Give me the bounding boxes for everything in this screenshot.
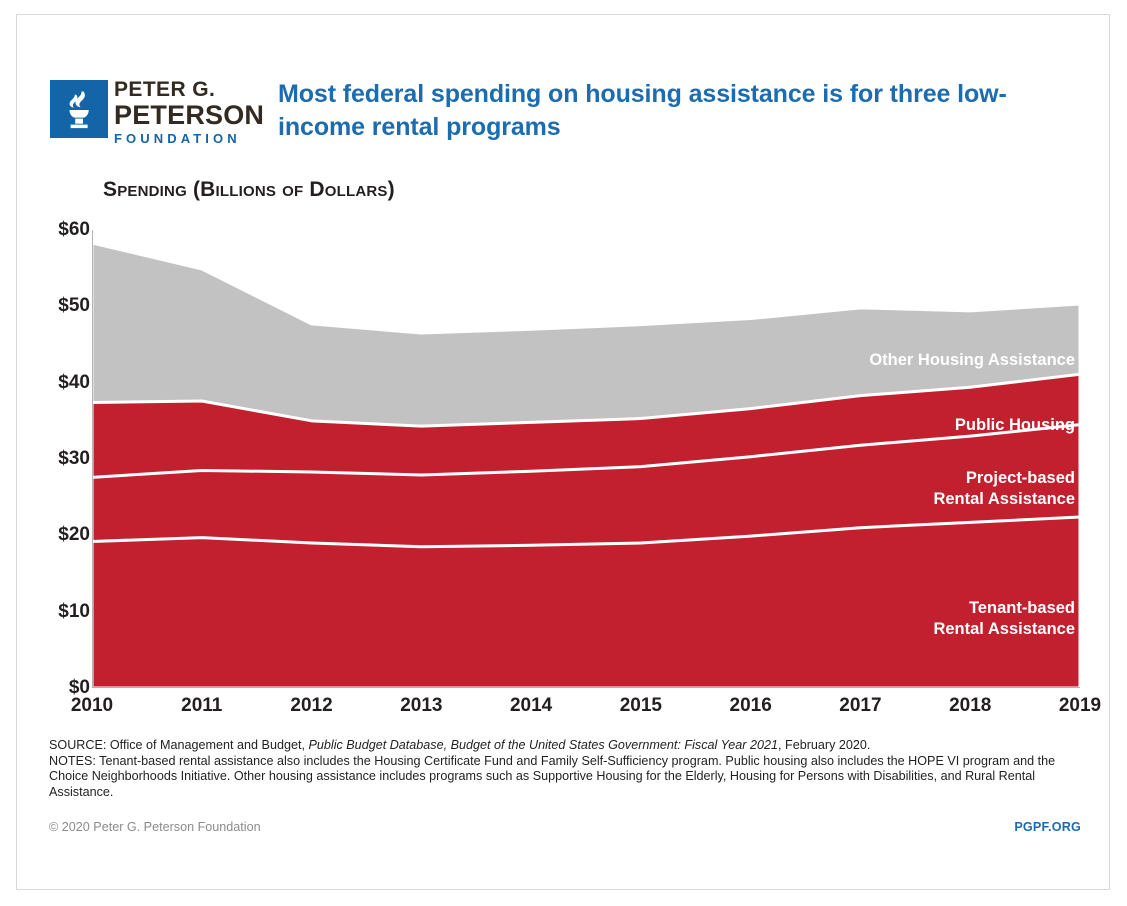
x-axis-tick-label: 2014 [510,695,552,717]
series-label-public: Public Housing [955,415,1075,436]
source-line: SOURCE: Office of Management and Budget,… [49,738,1081,754]
x-axis-tick-label: 2013 [400,695,442,717]
x-axis-tick-label: 2018 [949,695,991,717]
y-axis-caption: Spending (Billions of Dollars) [103,178,395,202]
y-axis-tick-label: $60 [58,219,90,241]
y-axis-tick-label: $10 [58,601,90,623]
logo-wordmark: PETER G. PETERSON FOUNDATION [114,79,264,146]
series-label-tenant: Tenant-basedRental Assistance [933,598,1075,640]
infographic-card: PETER G. PETERSON FOUNDATION Most federa… [0,0,1127,906]
x-axis-tick-label: 2012 [290,695,332,717]
pgpf-site-link[interactable]: PGPF.ORG [1014,820,1081,834]
series-label-line: Rental Assistance [933,620,1075,638]
series-label-line: Public Housing [955,416,1075,434]
y-axis-tick-label: $50 [58,295,90,317]
notes-line: NOTES: Tenant-based rental assistance al… [49,754,1081,801]
x-axis-tick-label: 2015 [620,695,662,717]
series-label-line: Project-based [966,469,1075,487]
y-axis-tick-label: $20 [58,524,90,546]
y-axis-labels: $0$10$20$30$40$50$60 [45,215,90,705]
torch-icon [50,80,108,138]
series-label-line: Other Housing Assistance [869,351,1075,369]
logo: PETER G. PETERSON FOUNDATION [50,80,262,152]
source-prefix: SOURCE: Office of Management and Budget, [49,738,308,752]
y-axis-tick-label: $30 [58,448,90,470]
copyright-text: © 2020 Peter G. Peterson Foundation [49,820,261,834]
x-axis-tick-label: 2016 [730,695,772,717]
logo-line-3: FOUNDATION [114,132,264,146]
stacked-area-chart: $0$10$20$30$40$50$60 2010201120122013201… [45,215,1085,725]
logo-line-2: PETERSON [114,102,264,129]
logo-line-1: PETER G. [114,79,264,100]
series-label-project: Project-basedRental Assistance [933,468,1075,510]
series-label-line: Tenant-based [969,599,1075,617]
x-axis-tick-label: 2011 [181,695,222,717]
series-label-other: Other Housing Assistance [869,350,1075,371]
x-axis-labels: 2010201120122013201420152016201720182019 [92,695,1080,727]
source-italic: Public Budget Database, Budget of the Un… [308,738,778,752]
footer: © 2020 Peter G. Peterson Foundation PGPF… [49,820,1081,840]
series-label-line: Rental Assistance [933,490,1075,508]
x-axis-tick-label: 2019 [1059,695,1101,717]
header: PETER G. PETERSON FOUNDATION Most federa… [50,78,1080,156]
footnotes: SOURCE: Office of Management and Budget,… [49,738,1081,800]
x-axis-tick-label: 2017 [839,695,881,717]
page-title: Most federal spending on housing assista… [278,78,1078,144]
plot-area [92,230,1080,688]
y-axis-tick-label: $40 [58,372,90,394]
source-suffix: , February 2020. [778,738,870,752]
x-axis-tick-label: 2010 [71,695,113,717]
